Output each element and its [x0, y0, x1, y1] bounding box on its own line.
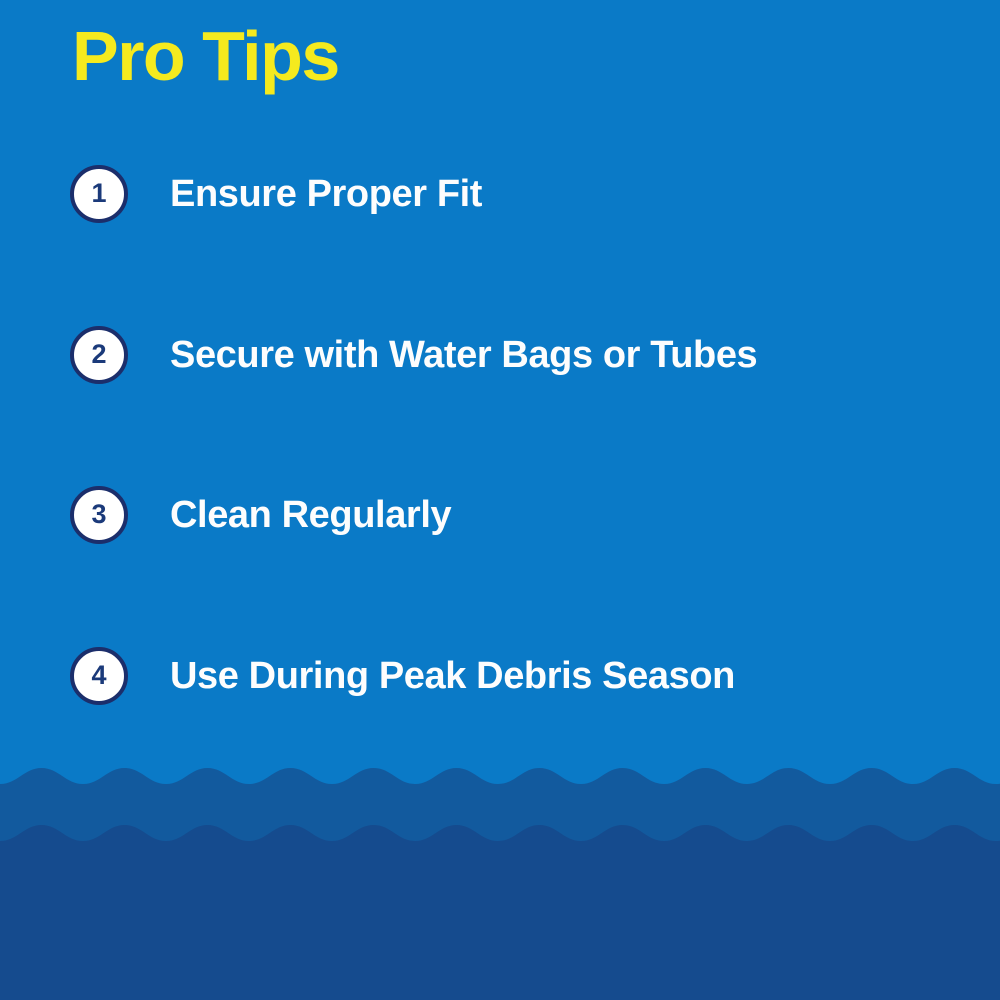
pro-tips-poster: Pro Tips 1 Ensure Proper Fit 2 Secure wi… [0, 0, 1000, 1000]
number-badge-icon: 4 [70, 647, 128, 705]
list-item: 4 Use During Peak Debris Season [70, 647, 735, 705]
number-badge-icon: 3 [70, 486, 128, 544]
tip-label: Secure with Water Bags or Tubes [170, 336, 757, 374]
wave-lower-decoration [0, 817, 1000, 1000]
list-item: 1 Ensure Proper Fit [70, 165, 482, 223]
page-title: Pro Tips [72, 21, 339, 91]
badge-number: 4 [91, 662, 106, 689]
list-item: 3 Clean Regularly [70, 486, 451, 544]
list-item: 2 Secure with Water Bags or Tubes [70, 326, 757, 384]
number-badge-icon: 2 [70, 326, 128, 384]
badge-number: 1 [91, 180, 106, 207]
number-badge-icon: 1 [70, 165, 128, 223]
tip-label: Clean Regularly [170, 496, 451, 534]
tip-label: Use During Peak Debris Season [170, 657, 735, 695]
badge-number: 3 [91, 501, 106, 528]
wave-upper-path [0, 768, 1000, 1000]
badge-number: 2 [91, 341, 106, 368]
wave-lower-path [0, 825, 1000, 1000]
tip-label: Ensure Proper Fit [170, 175, 482, 213]
wave-upper-decoration [0, 760, 1000, 1000]
